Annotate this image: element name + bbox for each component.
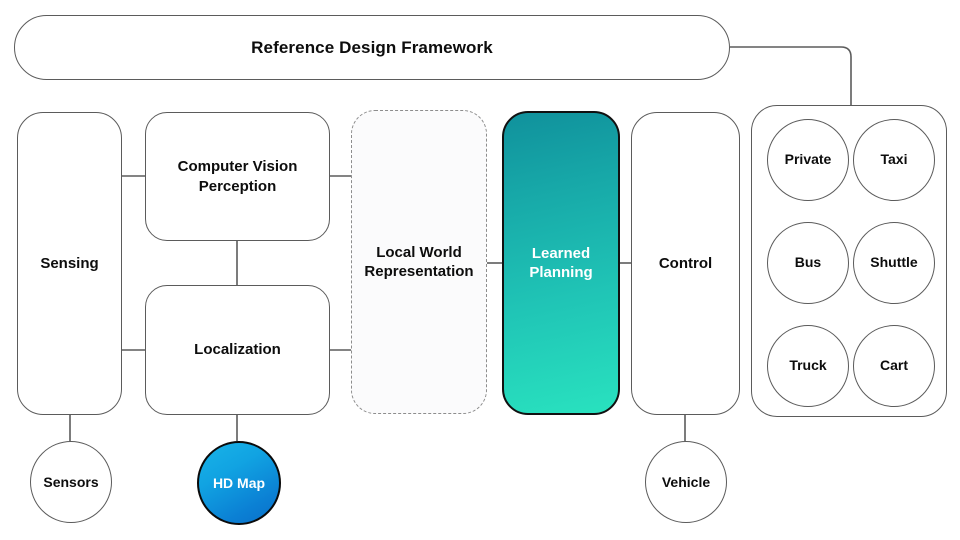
vehicles-container[interactable]: Private Taxi Bus Shuttle Truck Cart — [751, 105, 947, 417]
vehicle-option-private-label: Private — [785, 151, 832, 169]
leaf-hd-map-label: HD Map — [213, 475, 265, 491]
stage-sensing-label: Sensing — [40, 254, 98, 273]
stage-localization-label: Localization — [194, 340, 281, 359]
vehicle-option-taxi[interactable]: Taxi — [853, 119, 935, 201]
stage-learned-planning-label: Learned Planning — [529, 244, 592, 282]
stage-control[interactable]: Control — [631, 112, 740, 415]
vehicle-option-bus[interactable]: Bus — [767, 222, 849, 304]
label-line-1: Local World — [376, 244, 462, 261]
stage-learned-planning[interactable]: Learned Planning — [502, 111, 620, 415]
stage-local-world-representation-label: Local World Representation — [364, 243, 473, 281]
stage-localization[interactable]: Localization — [145, 285, 330, 415]
leaf-sensors[interactable]: Sensors — [30, 441, 112, 523]
vehicle-option-truck[interactable]: Truck — [767, 325, 849, 407]
vehicle-option-shuttle-label: Shuttle — [870, 254, 917, 272]
leaf-hd-map[interactable]: HD Map — [197, 441, 281, 525]
vehicle-option-taxi-label: Taxi — [881, 151, 908, 169]
label-line-1: Learned — [532, 245, 590, 262]
stage-computer-vision-perception-label: Computer Vision Perception — [178, 157, 298, 195]
diagram-canvas: Reference Design Framework Sensing Compu… — [0, 0, 960, 540]
vehicle-option-cart[interactable]: Cart — [853, 325, 935, 407]
label-line-2: Planning — [529, 264, 592, 281]
reference-design-framework-box[interactable]: Reference Design Framework — [14, 15, 730, 80]
label-line-2: Perception — [199, 178, 277, 195]
stage-sensing[interactable]: Sensing — [17, 112, 122, 415]
vehicle-option-bus-label: Bus — [795, 254, 821, 272]
stage-local-world-representation[interactable]: Local World Representation — [351, 110, 487, 414]
framework-label: Reference Design Framework — [251, 37, 493, 59]
leaf-vehicle-label: Vehicle — [662, 474, 710, 490]
label-line-1: Computer Vision — [178, 158, 298, 175]
vehicle-option-cart-label: Cart — [880, 357, 908, 375]
vehicle-option-private[interactable]: Private — [767, 119, 849, 201]
vehicle-option-shuttle[interactable]: Shuttle — [853, 222, 935, 304]
stage-computer-vision-perception[interactable]: Computer Vision Perception — [145, 112, 330, 241]
leaf-vehicle[interactable]: Vehicle — [645, 441, 727, 523]
vehicle-option-truck-label: Truck — [789, 357, 826, 375]
connector-framework-to-vehicles — [730, 47, 851, 105]
label-line-2: Representation — [364, 263, 473, 280]
stage-control-label: Control — [659, 254, 712, 273]
leaf-sensors-label: Sensors — [43, 474, 98, 490]
